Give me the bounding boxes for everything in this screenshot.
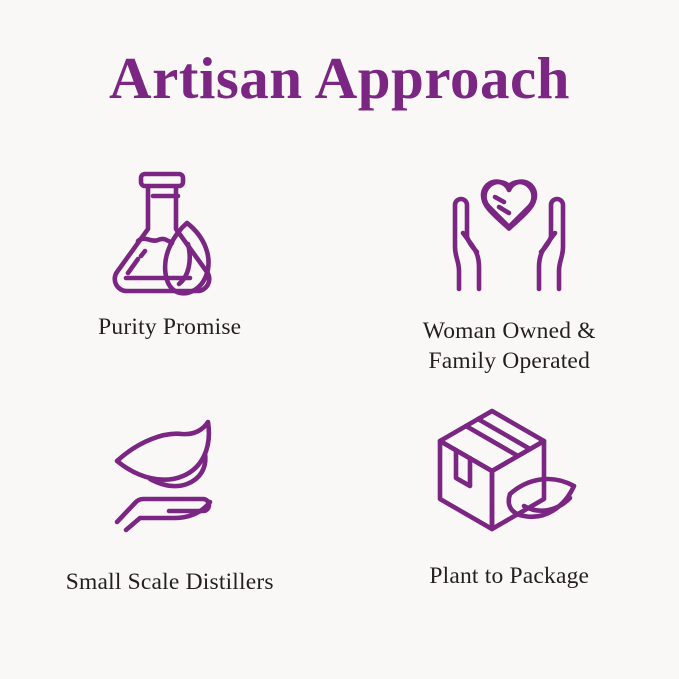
feature-grid: Purity Promise <box>0 160 679 630</box>
feature-cell-purity-promise: Purity Promise <box>0 160 340 395</box>
feature-cell-woman-owned: Woman Owned & Family Operated <box>340 160 679 395</box>
feature-label-purity-promise: Purity Promise <box>98 312 241 342</box>
feature-label-small-scale-distillers: Small Scale Distillers <box>66 567 274 597</box>
feature-cell-plant-to-package: Plant to Package <box>340 395 679 630</box>
artisan-approach-panel: Artisan Approach <box>0 0 679 679</box>
page-title: Artisan Approach <box>0 44 679 112</box>
hands-heart-icon <box>434 166 584 296</box>
flask-leaf-icon <box>95 164 245 294</box>
feature-label-plant-to-package: Plant to Package <box>429 561 589 591</box>
hand-leaf-icon <box>95 409 245 539</box>
feature-label-woman-owned: Woman Owned & Family Operated <box>423 316 596 376</box>
feature-cell-small-scale-distillers: Small Scale Distillers <box>0 395 340 630</box>
box-leaf-icon <box>434 405 584 535</box>
